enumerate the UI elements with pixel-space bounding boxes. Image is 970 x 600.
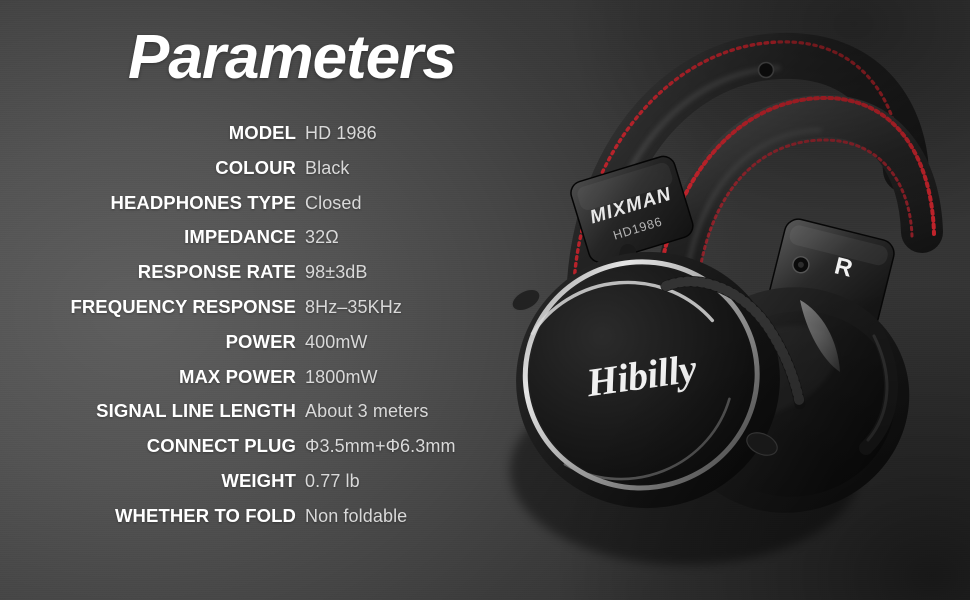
spec-value: 32Ω bbox=[296, 227, 339, 248]
spec-label: MODEL bbox=[0, 122, 296, 144]
page-title: Parameters bbox=[128, 22, 456, 93]
spec-row: WHETHER TO FOLD Non foldable bbox=[0, 505, 500, 540]
spec-row: IMPEDANCE 32Ω bbox=[0, 226, 500, 261]
spec-label: HEADPHONES TYPE bbox=[0, 192, 296, 214]
spec-label: CONNECT PLUG bbox=[0, 435, 296, 457]
spec-label: COLOUR bbox=[0, 157, 296, 179]
slide-background: Parameters MODEL HD 1986 COLOUR Black HE… bbox=[0, 0, 970, 600]
headband-vent-hole bbox=[759, 63, 774, 78]
spec-row: FREQUENCY RESPONSE 8Hz–35KHz bbox=[0, 296, 500, 331]
spec-label: MAX POWER bbox=[0, 366, 296, 388]
spec-row: HEADPHONES TYPE Closed bbox=[0, 192, 500, 227]
spec-value: 98±3dB bbox=[296, 262, 368, 283]
headphones-illustration: MIXMAN HD1986 R bbox=[470, 0, 970, 600]
product-image-headphones: MIXMAN HD1986 R bbox=[470, 0, 970, 600]
spec-row: MAX POWER 1800mW bbox=[0, 366, 500, 401]
spec-value: 400mW bbox=[296, 332, 368, 353]
spec-label: WEIGHT bbox=[0, 470, 296, 492]
spec-value: HD 1986 bbox=[296, 123, 377, 144]
spec-value: Non foldable bbox=[296, 506, 407, 527]
spec-value: 8Hz–35KHz bbox=[296, 297, 402, 318]
spec-row: RESPONSE RATE 98±3dB bbox=[0, 261, 500, 296]
spec-row: SIGNAL LINE LENGTH About 3 meters bbox=[0, 400, 500, 435]
spec-label: FREQUENCY RESPONSE bbox=[0, 296, 296, 318]
spec-label: WHETHER TO FOLD bbox=[0, 505, 296, 527]
spec-row: MODEL HD 1986 bbox=[0, 122, 500, 157]
spec-row: WEIGHT 0.77 lb bbox=[0, 470, 500, 505]
spec-row: COLOUR Black bbox=[0, 157, 500, 192]
spec-row: POWER 400mW bbox=[0, 331, 500, 366]
spec-row: CONNECT PLUG Φ3.5mm+Φ6.3mm bbox=[0, 435, 500, 470]
spec-label: SIGNAL LINE LENGTH bbox=[0, 400, 296, 422]
spec-label: IMPEDANCE bbox=[0, 226, 296, 248]
spec-value: About 3 meters bbox=[296, 401, 428, 422]
spec-value: 0.77 lb bbox=[296, 471, 360, 492]
spec-value: 1800mW bbox=[296, 367, 378, 388]
spec-label: POWER bbox=[0, 331, 296, 353]
spec-value: Black bbox=[296, 158, 350, 179]
spec-value: Φ3.5mm+Φ6.3mm bbox=[296, 436, 456, 457]
spec-label: RESPONSE RATE bbox=[0, 261, 296, 283]
spec-value: Closed bbox=[296, 193, 362, 214]
specifications-table: MODEL HD 1986 COLOUR Black HEADPHONES TY… bbox=[0, 122, 500, 540]
